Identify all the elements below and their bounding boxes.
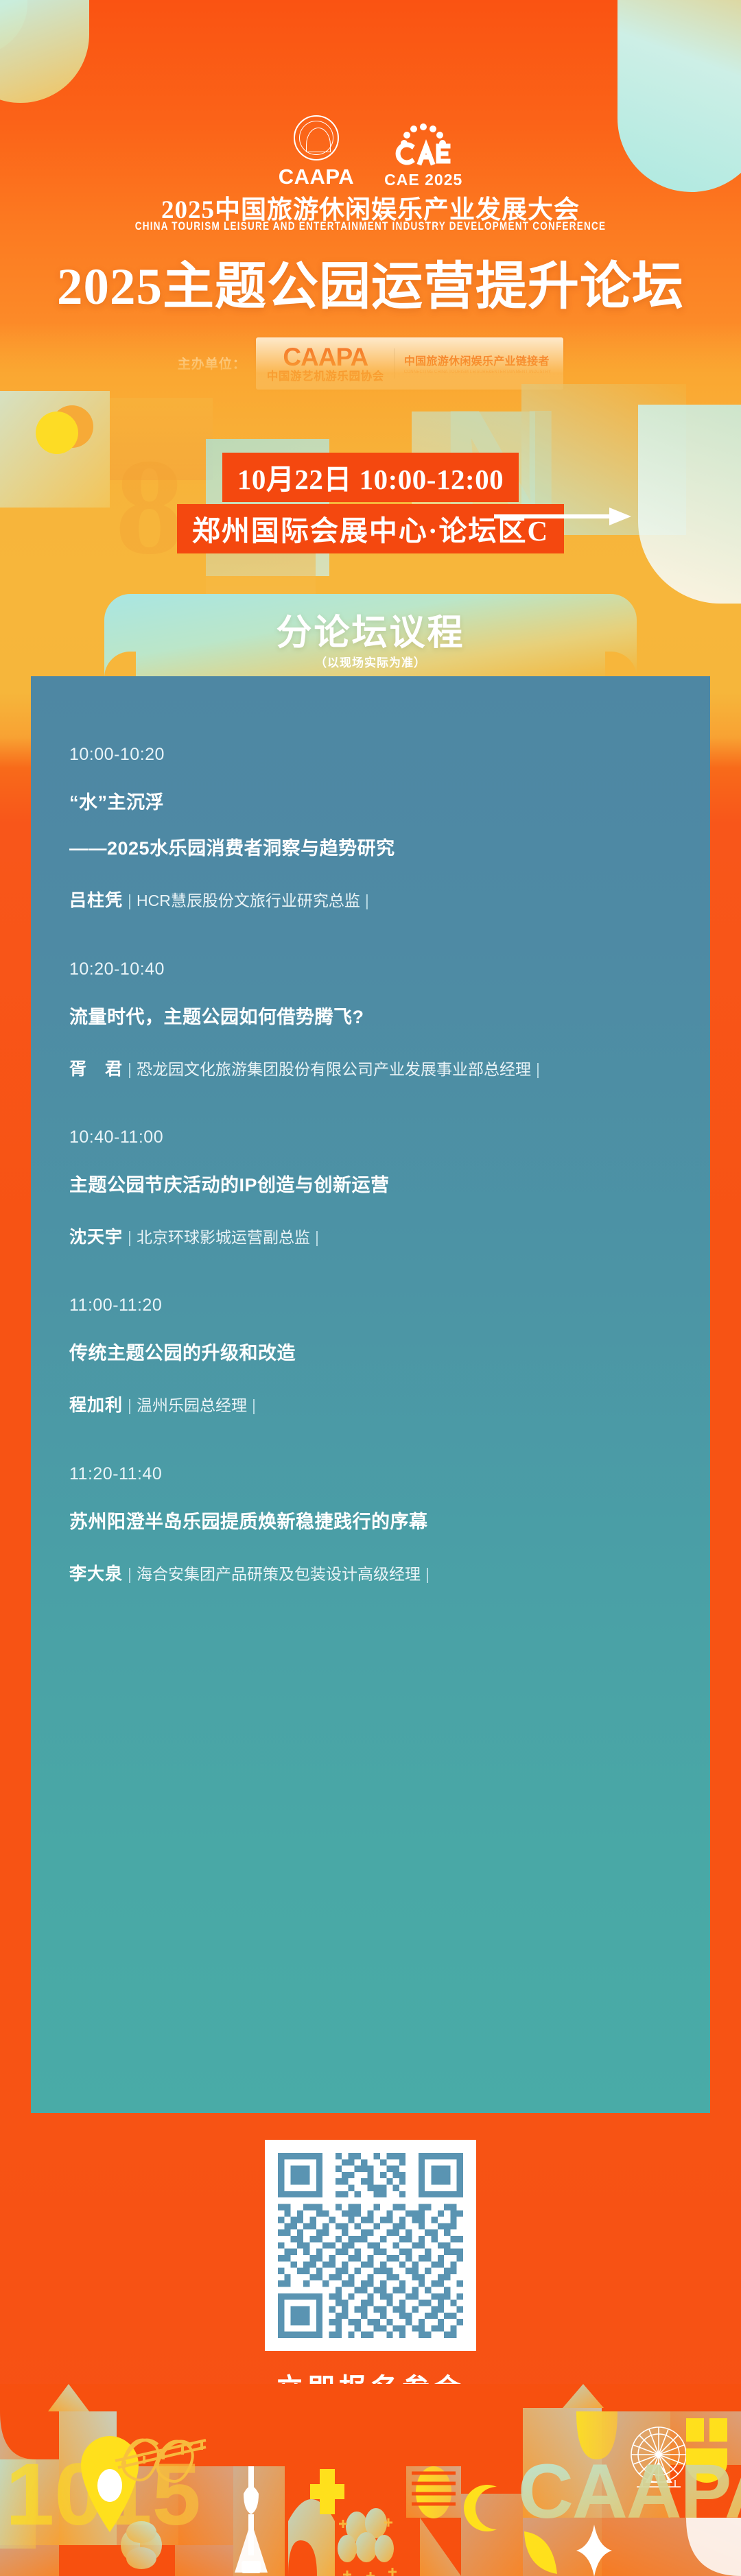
- conference-name-en: CHINA TOURISM LEISURE AND ENTERTAINMENT …: [0, 219, 741, 232]
- organizer-name-cn: 中国游艺机游乐园协会: [267, 371, 384, 383]
- arrow-right-icon: [494, 506, 631, 527]
- agenda-session: 11:20-11:40 苏州阳澄半岛乐园提质焕新稳捷践行的序幕 李大泉|海合安集…: [69, 1464, 672, 1588]
- moon-icon: [36, 412, 78, 454]
- speaker-divider: |: [123, 892, 137, 909]
- speaker-divider: |: [123, 1060, 137, 1078]
- session-time: 10:20-10:40: [69, 959, 672, 979]
- speaker-name: 程加利: [69, 1396, 123, 1415]
- caapa-logo: CAAPA: [279, 115, 354, 189]
- session-time: 10:00-10:20: [69, 745, 672, 765]
- session-subtitle: ——2025水乐园消费者洞察与趋势研究: [69, 835, 672, 862]
- footer-decoration: 1015: [0, 2384, 741, 2576]
- qr-code-image: [278, 2153, 463, 2338]
- event-datetime: 10月22日 10:00-12:00: [222, 453, 519, 502]
- session-title: 苏州阳澄半岛乐园提质焕新稳捷践行的序幕: [69, 1509, 672, 1536]
- cae-ferris-icon: [392, 121, 455, 167]
- speaker-divider-end: |: [421, 1565, 434, 1583]
- top-right-blob-back: [686, 0, 741, 103]
- session-time: 10:40-11:00: [69, 1128, 672, 1147]
- speaker-divider-end: |: [360, 892, 374, 909]
- cae-logo: CAE 2025: [384, 121, 462, 189]
- organizer-row: 主办单位： CAAPA 中国游艺机游乐园协会 中国旅游休闲娱乐产业链接者 CON…: [0, 337, 741, 390]
- registration-qr-code[interactable]: [265, 2140, 476, 2351]
- organizer-logo-card: CAAPA 中国游艺机游乐园协会 中国旅游休闲娱乐产业链接者 CONNECTIN…: [256, 337, 563, 390]
- page-title: 2025主题公园运营提升论坛: [0, 244, 741, 319]
- speaker-name: 李大泉: [69, 1564, 123, 1584]
- caapa-wordmark: CAAPA: [279, 165, 354, 189]
- organizer-logo-right: 中国旅游休闲娱乐产业链接者 CONNECTING CHINA TOURISM L…: [404, 352, 551, 374]
- speaker-name: 沈天宇: [69, 1228, 123, 1247]
- agenda-subheading: （以现场实际为准）: [0, 653, 741, 670]
- organizer-wordmark: CAAPA: [283, 344, 368, 371]
- session-title: 传统主题公园的升级和改造: [69, 1340, 672, 1367]
- event-datetime-banner: 10月22日 10:00-12:00 郑州国际会展中心·论坛区C: [0, 453, 741, 553]
- session-speaker: 程加利|温州乐园总经理|: [69, 1392, 672, 1420]
- speaker-divider: |: [123, 1228, 137, 1246]
- speaker-title: HCR慧辰股份文旅行业研究总监: [137, 892, 360, 909]
- agenda-session: 11:00-11:20 传统主题公园的升级和改造 程加利|温州乐园总经理|: [69, 1296, 672, 1420]
- organizer-label: 主办单位：: [178, 354, 246, 372]
- agenda-session: 10:40-11:00 主题公园节庆活动的IP创造与创新运营 沈天宇|北京环球影…: [69, 1128, 672, 1252]
- session-speaker: 李大泉|海合安集团产品研策及包装设计高级经理|: [69, 1560, 672, 1588]
- speaker-divider: |: [123, 1396, 137, 1414]
- agenda-panel: 10:00-10:20 “水”主沉浮 ——2025水乐园消费者洞察与趋势研究 吕…: [31, 676, 710, 2113]
- session-title: 主题公园节庆活动的IP创造与创新运营: [69, 1172, 672, 1199]
- speaker-divider-end: |: [310, 1228, 324, 1246]
- agenda-heading: 分论坛议程: [0, 604, 741, 655]
- organizer-slogan-cn: 中国旅游休闲娱乐产业链接者: [404, 352, 551, 368]
- speaker-title: 温州乐园总经理: [137, 1396, 247, 1414]
- top-left-blob: [0, 0, 89, 103]
- agenda-session: 10:20-10:40 流量时代，主题公园如何借势腾飞? 胥 君|恐龙园文化旅游…: [69, 959, 672, 1084]
- speaker-divider-end: |: [247, 1396, 261, 1414]
- speaker-title: 恐龙园文化旅游集团股份有限公司产业发展事业部总经理: [137, 1060, 531, 1078]
- session-time: 11:20-11:40: [69, 1464, 672, 1484]
- event-poster: CAAPA CAE 2025: [0, 0, 741, 2576]
- organizer-divider: [394, 348, 395, 379]
- organizer-logo-left: CAAPA 中国游艺机游乐园协会: [267, 344, 384, 383]
- session-title: “水”主沉浮: [69, 789, 672, 816]
- caapa-seal-icon: [294, 115, 339, 160]
- speaker-divider: |: [123, 1565, 137, 1583]
- session-title: 流量时代，主题公园如何借势腾飞?: [69, 1004, 672, 1031]
- speaker-name: 胥 君: [69, 1060, 123, 1079]
- top-left-blob-back: [0, 0, 27, 55]
- session-time: 11:00-11:20: [69, 1296, 672, 1315]
- speaker-title: 海合安集团产品研策及包装设计高级经理: [137, 1565, 421, 1583]
- organizer-slogan-en: CONNECTING CHINA TOURISM LEISURE&ENTERTA…: [404, 370, 551, 375]
- footer-mosaic-svg: 1015: [0, 2384, 741, 2576]
- speaker-title: 北京环球影城运营副总监: [137, 1228, 310, 1246]
- speaker-name: 吕柱凭: [69, 891, 123, 910]
- agenda-session: 10:00-10:20 “水”主沉浮 ——2025水乐园消费者洞察与趋势研究 吕…: [69, 745, 672, 916]
- speaker-divider-end: |: [531, 1060, 545, 1078]
- session-speaker: 沈天宇|北京环球影城运营副总监|: [69, 1224, 672, 1252]
- session-speaker: 吕柱凭|HCR慧辰股份文旅行业研究总监|: [69, 887, 672, 915]
- cae-wordmark: CAE 2025: [384, 171, 462, 189]
- header-logos: CAAPA CAE 2025: [0, 115, 741, 189]
- session-speaker: 胥 君|恐龙园文化旅游集团股份有限公司产业发展事业部总经理|: [69, 1056, 672, 1084]
